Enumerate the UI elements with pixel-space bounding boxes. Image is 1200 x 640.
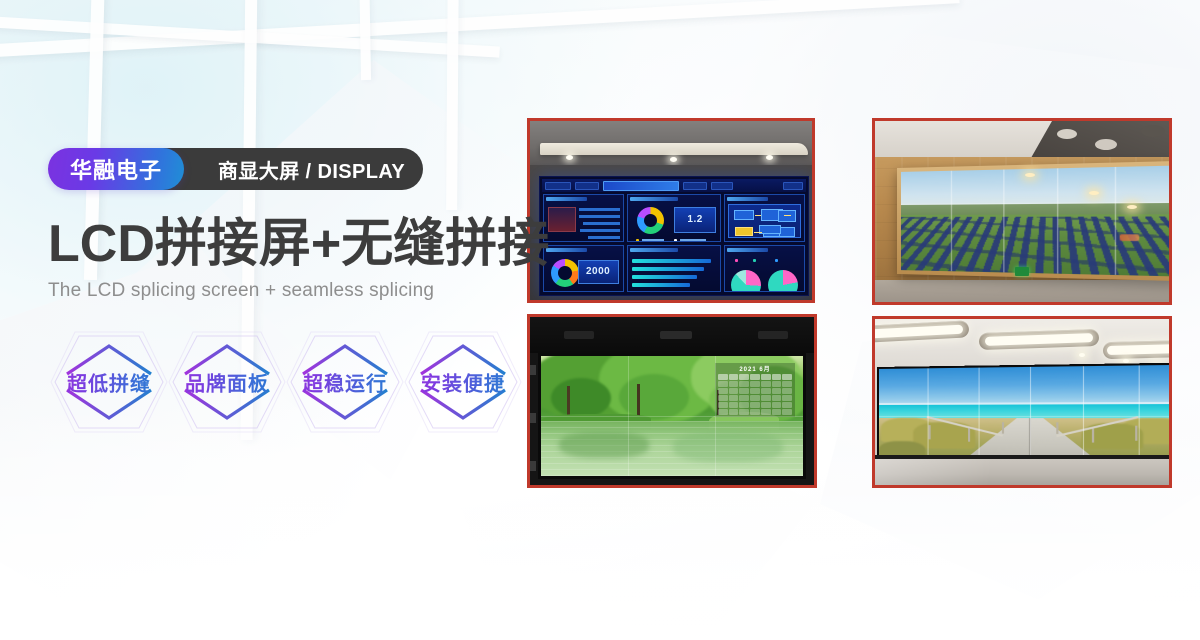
feature-label: 安装便捷 [404,368,522,397]
photo-lobby-beach-wall [872,316,1172,488]
page-subtitle: The LCD splicing screen + seamless splic… [48,280,548,302]
background-beam-horizontal-2 [0,13,500,57]
background-beam-vertical-3 [359,0,371,80]
feature-hexagon-3: 超稳运行 [286,328,404,436]
brand-badge: 华融电子 [48,148,184,190]
banner-text-column: 商显大屏 / DISPLAY 华融电子 LCD拼接屏+无缝拼接 The LCD … [48,148,548,436]
video-wall-garden: 2021 6月 [538,353,806,479]
promo-banner: 商显大屏 / DISPLAY 华融电子 LCD拼接屏+无缝拼接 The LCD … [0,0,1200,640]
feature-label: 超低拼缝 [50,368,168,397]
feature-hexagon-list: 超低拼缝 品牌面板 [50,328,548,436]
dashboard-metric-number: 2000 [586,267,610,277]
video-wall-beach [877,362,1169,469]
photo-garden-lake-wall: 2021 6月 [527,314,817,488]
dashboard-metric-ratio: 1.2 [687,215,702,225]
feature-hexagon-1: 超低拼缝 [50,328,168,436]
background-beam-horizontal-1 [0,0,960,59]
feature-hexagon-2: 品牌面板 [168,328,286,436]
page-title: LCD拼接屏+无缝拼接 [48,216,548,272]
dashboard-screen: 1.2 [539,176,809,296]
video-wall-solar [897,161,1169,281]
brand-badge-row: 商显大屏 / DISPLAY 华融电子 [48,148,548,190]
photo-corridor-solar-wall [872,118,1172,305]
photo-control-room-dashboard: 1.2 [527,118,815,303]
calendar-overlay: 2021 6月 [715,363,795,417]
feature-label: 超稳运行 [286,368,404,397]
feature-label: 品牌面板 [168,368,286,397]
feature-hexagon-4: 安装便捷 [404,328,522,436]
calendar-title: 2021 6月 [739,364,770,373]
